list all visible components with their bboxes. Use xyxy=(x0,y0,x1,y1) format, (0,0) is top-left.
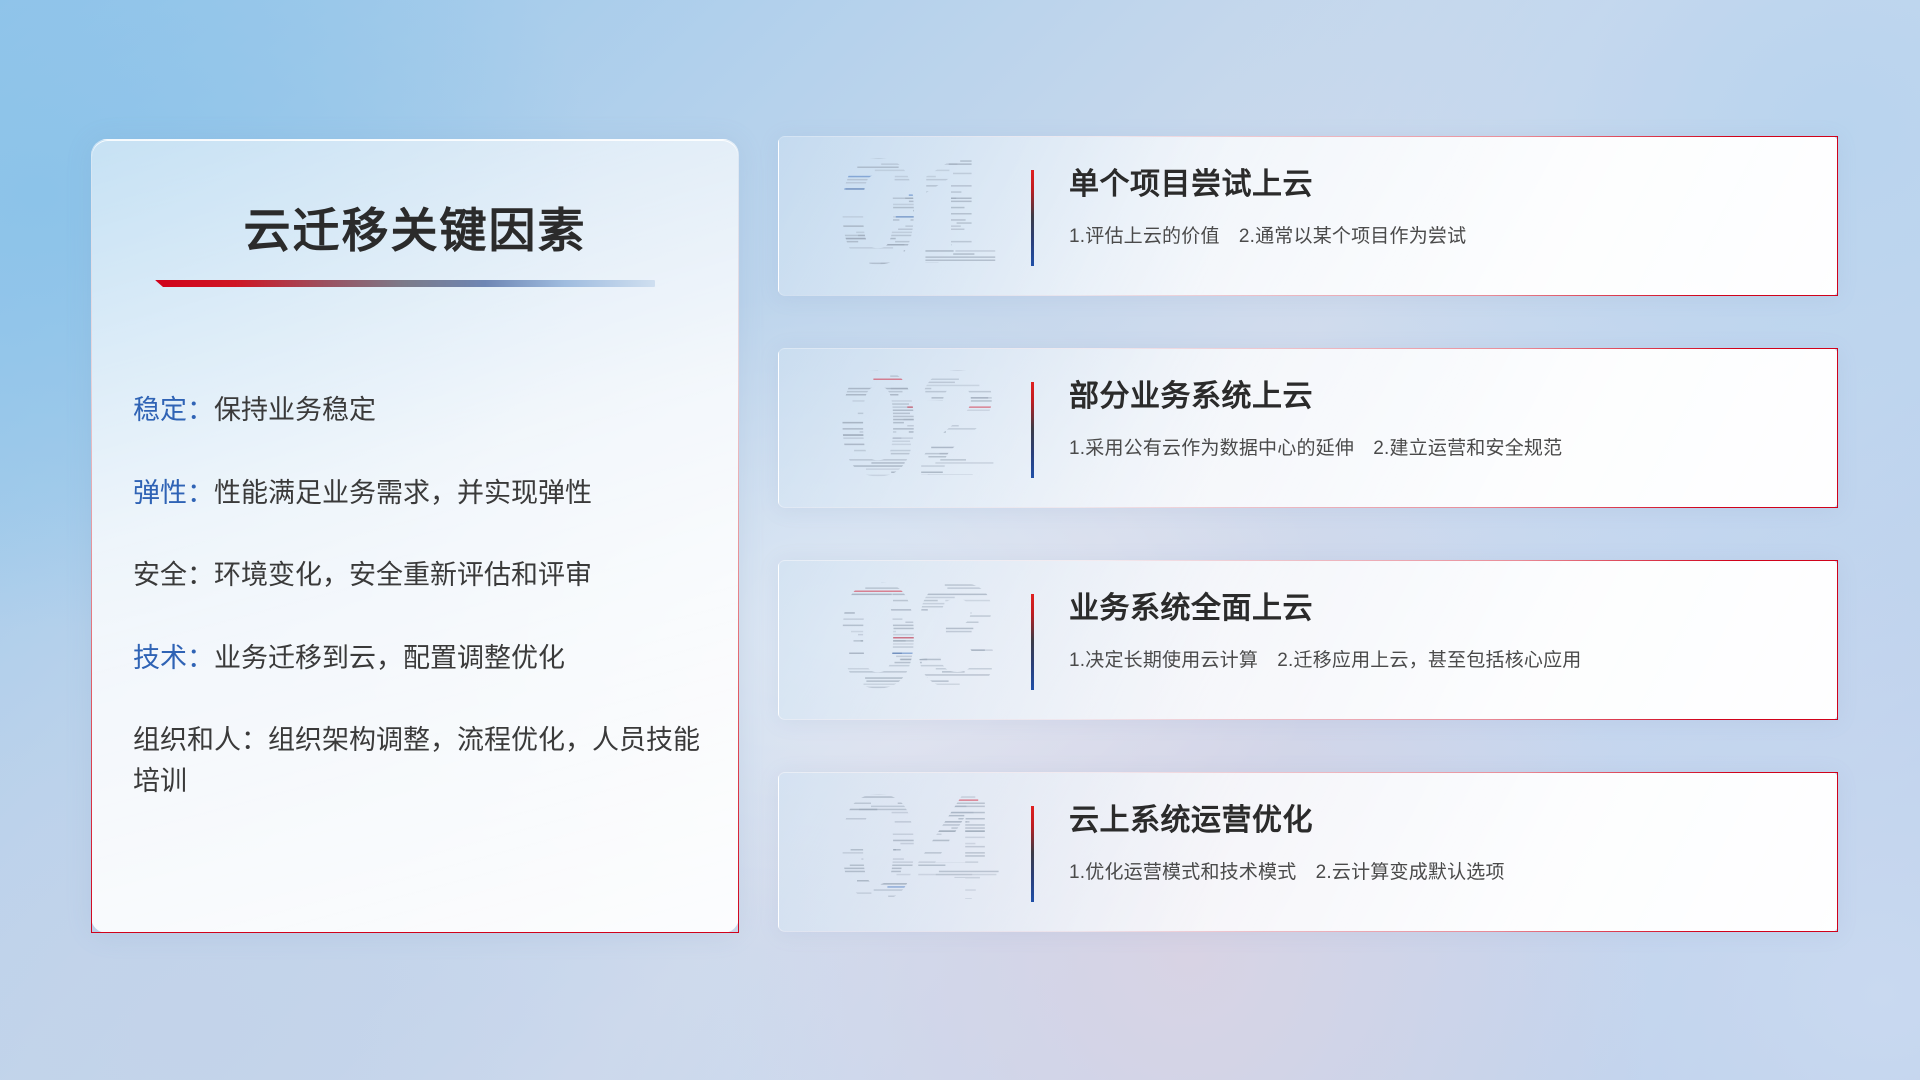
stage-number-watermark: 0404 xyxy=(811,781,1021,925)
key-factors-panel: 云迁移关键因素 稳定：保持业务稳定弹性：性能满足业务需求，并实现弹性安全：环境变… xyxy=(91,139,739,933)
factor-key: 技术： xyxy=(133,643,214,673)
migration-stage-card-list: 0101单个项目尝试上云1.评估上云的价值 2.通常以某个项目作为尝试0202部… xyxy=(778,136,1838,932)
factor-value: 保持业务稳定 xyxy=(214,395,376,425)
card-title: 单个项目尝试上云 xyxy=(1069,159,1813,203)
migration-stage-card[interactable]: 0303业务系统全面上云1.决定长期使用云计算 2.迁移应用上云，甚至包括核心应… xyxy=(778,560,1838,720)
card-description: 1.采用公有云作为数据中心的延伸 2.建立运营和安全规范 xyxy=(1069,433,1813,460)
factor-key: 安全： xyxy=(133,560,214,590)
factor-row: 技术：业务迁移到云，配置调整优化 xyxy=(133,638,708,679)
card-body: 云上系统运营优化1.优化运营模式和技术模式 2.云计算变成默认选项 xyxy=(1069,795,1813,884)
card-title: 云上系统运营优化 xyxy=(1069,795,1813,839)
card-divider-rule xyxy=(1031,170,1034,266)
card-title: 业务系统全面上云 xyxy=(1069,583,1813,627)
factor-list: 稳定：保持业务稳定弹性：性能满足业务需求，并实现弹性安全：环境变化，安全重新评估… xyxy=(133,390,708,801)
title-underline-rule xyxy=(155,280,655,287)
factor-value: 业务迁移到云，配置调整优化 xyxy=(214,643,565,673)
card-body: 业务系统全面上云1.决定长期使用云计算 2.迁移应用上云，甚至包括核心应用 xyxy=(1069,583,1813,672)
card-description: 1.优化运营模式和技术模式 2.云计算变成默认选项 xyxy=(1069,857,1813,884)
factor-row: 组织和人：组织架构调整，流程优化，人员技能培训 xyxy=(133,720,708,801)
factor-row: 弹性：性能满足业务需求，并实现弹性 xyxy=(133,473,708,514)
factor-key: 组织和人： xyxy=(133,725,268,755)
stage-number-watermark: 0202 xyxy=(811,357,1021,501)
factor-value: 环境变化，安全重新评估和评审 xyxy=(214,560,592,590)
card-body: 单个项目尝试上云1.评估上云的价值 2.通常以某个项目作为尝试 xyxy=(1069,159,1813,248)
card-description: 1.决定长期使用云计算 2.迁移应用上云，甚至包括核心应用 xyxy=(1069,645,1813,672)
factor-key: 弹性： xyxy=(133,478,214,508)
page-title: 云迁移关键因素 xyxy=(92,192,738,261)
migration-stage-card[interactable]: 0101单个项目尝试上云1.评估上云的价值 2.通常以某个项目作为尝试 xyxy=(778,136,1838,296)
card-divider-rule xyxy=(1031,806,1034,902)
factor-row: 稳定：保持业务稳定 xyxy=(133,390,708,431)
card-divider-rule xyxy=(1031,594,1034,690)
stage-number-watermark: 0303 xyxy=(811,569,1021,713)
factor-value: 性能满足业务需求，并实现弹性 xyxy=(214,478,592,508)
migration-stage-card[interactable]: 0202部分业务系统上云1.采用公有云作为数据中心的延伸 2.建立运营和安全规范 xyxy=(778,348,1838,508)
card-title: 部分业务系统上云 xyxy=(1069,371,1813,415)
stage-number-watermark: 0101 xyxy=(811,145,1021,289)
migration-stage-card[interactable]: 0404云上系统运营优化1.优化运营模式和技术模式 2.云计算变成默认选项 xyxy=(778,772,1838,932)
factor-row: 安全：环境变化，安全重新评估和评审 xyxy=(133,555,708,596)
card-divider-rule xyxy=(1031,382,1034,478)
card-body: 部分业务系统上云1.采用公有云作为数据中心的延伸 2.建立运营和安全规范 xyxy=(1069,371,1813,460)
factor-key: 稳定： xyxy=(133,395,214,425)
card-description: 1.评估上云的价值 2.通常以某个项目作为尝试 xyxy=(1069,221,1813,248)
